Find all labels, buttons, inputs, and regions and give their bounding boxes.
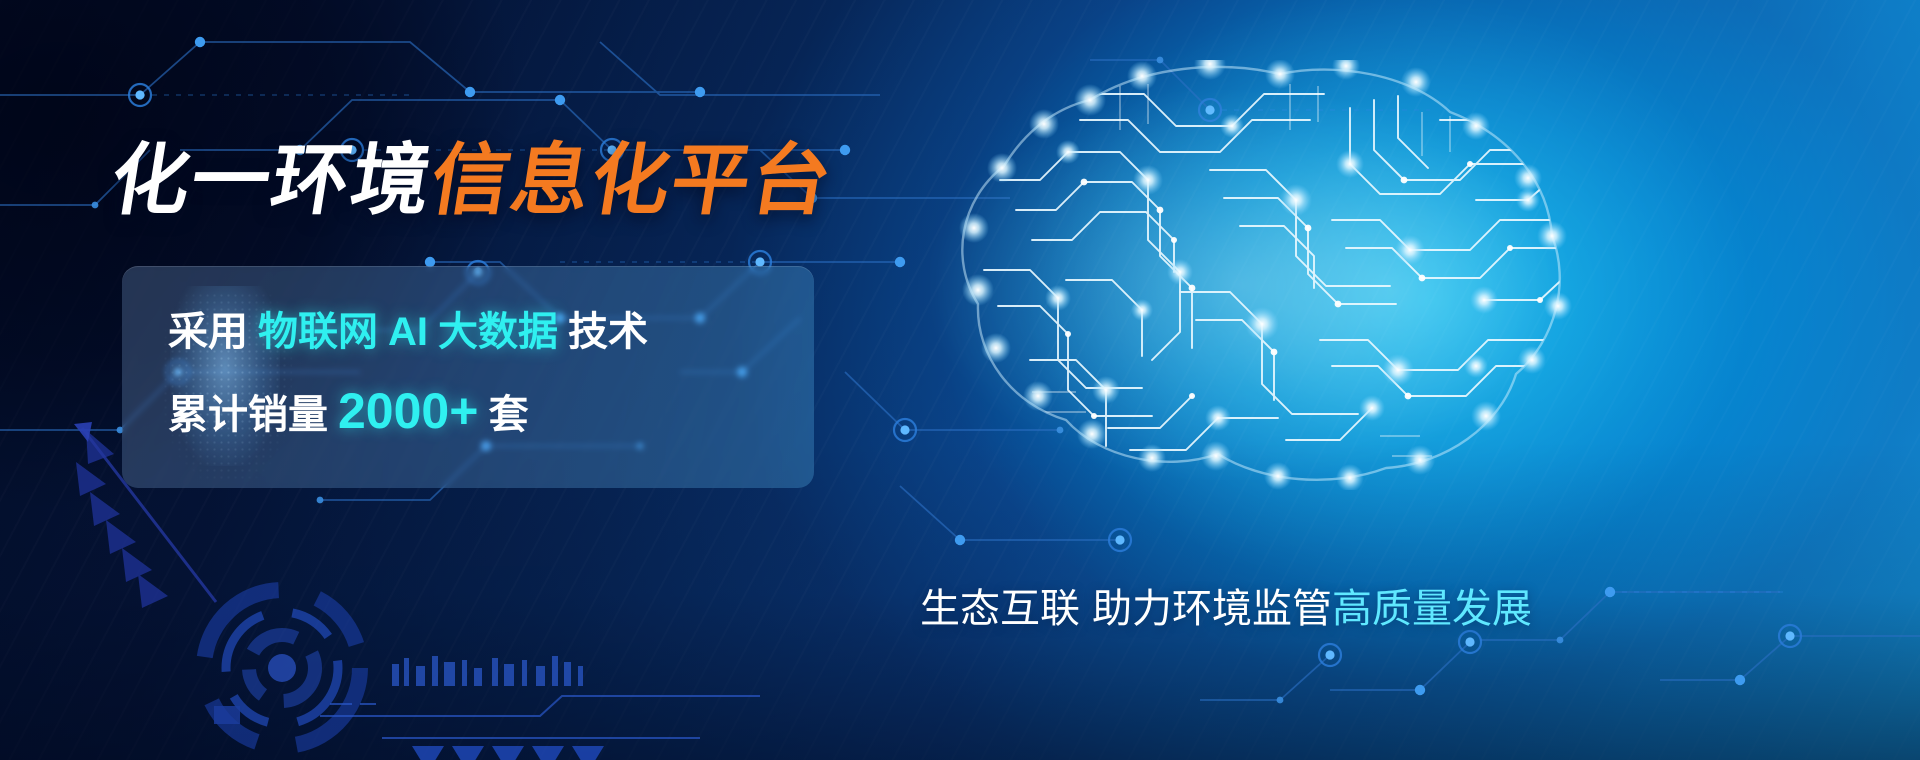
banner-tagline: 生态互联助力环境监管高质量发展 [920,589,1532,629]
panel-line-technology: 采用物联网AI大数据技术 [168,312,814,352]
tech-keyword-iot: 物联网 [258,310,378,354]
ai-platform-banner: 化一环境信息化平台 采用物联网AI大数据技术 累计销量2000+套 生态互联助力… [0,0,1920,760]
tech-keyword-ai: AI [388,310,428,354]
page-title: 化一环境信息化平台 [106,141,838,219]
tagline-part-1: 生态互联 [920,587,1080,631]
title-orange-part: 信息化平台 [426,141,838,219]
tagline-part-highlight: 高质量发展 [1332,587,1532,631]
diagonal-arrow-decoration [30,420,360,650]
tagline-part-2: 助力环境监管 [1092,587,1332,631]
tech-keyword-bigdata: 大数据 [438,310,558,354]
ai-circuit-brain-graphic [880,60,1580,490]
tech-prefix-label: 采用 [168,310,248,354]
title-white-part: 化一环境 [106,141,438,219]
sales-unit-label: 套 [488,393,528,437]
tech-suffix-label: 技术 [568,310,648,354]
